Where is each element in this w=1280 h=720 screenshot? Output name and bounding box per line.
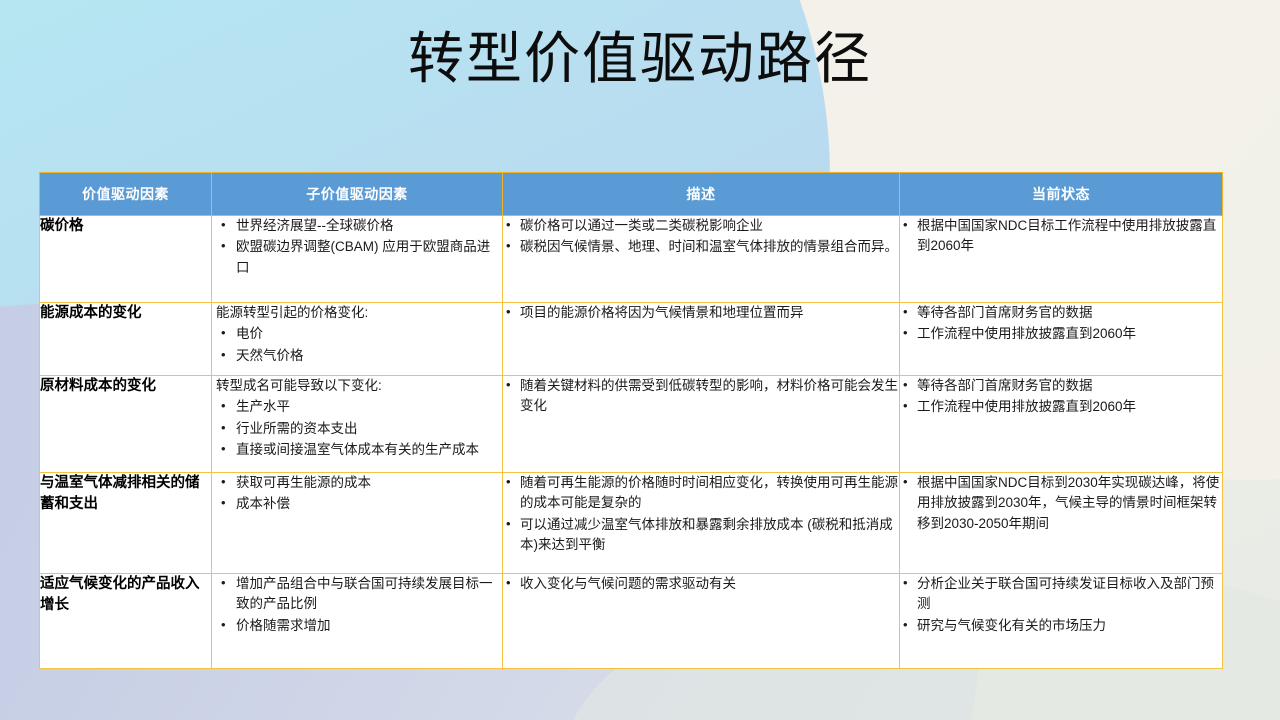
cell-driver: 与温室气体减排相关的储蓄和支出 bbox=[40, 473, 212, 574]
list-item: 根据中国国家NDC目标到2030年实现碳达峰，将使用排放披露到2030年，气候主… bbox=[900, 473, 1222, 534]
list-item: 工作流程中使用排放披露直到2060年 bbox=[900, 324, 1222, 344]
list-item: 碳价格可以通过一类或二类碳税影响企业 bbox=[503, 216, 899, 236]
value-driver-table-wrap: 价值驱动因素 子价值驱动因素 描述 当前状态 碳价格 世界经济展望--全球碳价格… bbox=[39, 172, 1222, 669]
page-title: 转型价值驱动路径 bbox=[0, 24, 1280, 94]
list-item: 世界经济展望--全球碳价格 bbox=[212, 216, 502, 236]
cell-description: 项目的能源价格将因为气候情景和地理位置而异 bbox=[503, 303, 900, 376]
cell-sub-driver: 世界经济展望--全球碳价格 欧盟碳边界调整(CBAM) 应用于欧盟商品进口 bbox=[212, 216, 503, 303]
table-row: 与温室气体减排相关的储蓄和支出 获取可再生能源的成本 成本补偿 随着可再生能源的… bbox=[40, 473, 1223, 574]
description-bullets: 碳价格可以通过一类或二类碳税影响企业 碳税因气候情景、地理、时间和温室气体排放的… bbox=[503, 216, 899, 258]
sub-driver-bullets: 世界经济展望--全球碳价格 欧盟碳边界调整(CBAM) 应用于欧盟商品进口 bbox=[212, 216, 502, 278]
table-header-row: 价值驱动因素 子价值驱动因素 描述 当前状态 bbox=[40, 173, 1223, 216]
list-item: 根据中国国家NDC目标工作流程中使用排放披露直到2060年 bbox=[900, 216, 1222, 257]
description-bullets: 随着可再生能源的价格随时时间相应变化，转换使用可再生能源的成本可能是复杂的 可以… bbox=[503, 473, 899, 555]
list-item: 分析企业关于联合国可持续发证目标收入及部门预测 bbox=[900, 574, 1222, 615]
slide: 转型价值驱动路径 价值驱动因素 子价值驱动因素 描述 当前状态 碳价格 bbox=[0, 0, 1280, 720]
cell-sub-driver: 转型成名可能导致以下变化: 生产水平 行业所需的资本支出 直接或间接温室气体成本… bbox=[212, 376, 503, 473]
status-bullets: 根据中国国家NDC目标工作流程中使用排放披露直到2060年 bbox=[900, 216, 1222, 257]
sub-driver-bullets: 获取可再生能源的成本 成本补偿 bbox=[212, 473, 502, 515]
cell-sub-driver: 增加产品组合中与联合国可持续发展目标一致的产品比例 价格随需求增加 bbox=[212, 574, 503, 669]
list-item: 直接或间接温室气体成本有关的生产成本 bbox=[212, 440, 502, 460]
cell-driver: 能源成本的变化 bbox=[40, 303, 212, 376]
cell-driver: 适应气候变化的产品收入增长 bbox=[40, 574, 212, 669]
list-item: 欧盟碳边界调整(CBAM) 应用于欧盟商品进口 bbox=[212, 237, 502, 278]
sub-driver-lead: 转型成名可能导致以下变化: bbox=[216, 376, 502, 396]
cell-description: 随着关键材料的供需受到低碳转型的影响，材料价格可能会发生变化 bbox=[503, 376, 900, 473]
sub-driver-bullets: 电价 天然气价格 bbox=[212, 324, 502, 366]
list-item: 随着可再生能源的价格随时时间相应变化，转换使用可再生能源的成本可能是复杂的 bbox=[503, 473, 899, 514]
cell-description: 收入变化与气候问题的需求驱动有关 bbox=[503, 574, 900, 669]
description-bullets: 收入变化与气候问题的需求驱动有关 bbox=[503, 574, 899, 594]
list-item: 生产水平 bbox=[212, 397, 502, 417]
list-item: 等待各部门首席财务官的数据 bbox=[900, 303, 1222, 323]
column-header-value-driver: 价值驱动因素 bbox=[40, 173, 212, 216]
cell-description: 随着可再生能源的价格随时时间相应变化，转换使用可再生能源的成本可能是复杂的 可以… bbox=[503, 473, 900, 574]
cell-status: 等待各部门首席财务官的数据 工作流程中使用排放披露直到2060年 bbox=[900, 376, 1223, 473]
list-item: 项目的能源价格将因为气候情景和地理位置而异 bbox=[503, 303, 899, 323]
table-body: 碳价格 世界经济展望--全球碳价格 欧盟碳边界调整(CBAM) 应用于欧盟商品进… bbox=[40, 216, 1223, 669]
list-item: 收入变化与气候问题的需求驱动有关 bbox=[503, 574, 899, 594]
table-row: 能源成本的变化 能源转型引起的价格变化: 电价 天然气价格 项目的能源价格将因为… bbox=[40, 303, 1223, 376]
list-item: 等待各部门首席财务官的数据 bbox=[900, 376, 1222, 396]
column-header-sub-value-driver: 子价值驱动因素 bbox=[212, 173, 503, 216]
status-bullets: 分析企业关于联合国可持续发证目标收入及部门预测 研究与气候变化有关的市场压力 bbox=[900, 574, 1222, 636]
status-bullets: 等待各部门首席财务官的数据 工作流程中使用排放披露直到2060年 bbox=[900, 376, 1222, 418]
cell-description: 碳价格可以通过一类或二类碳税影响企业 碳税因气候情景、地理、时间和温室气体排放的… bbox=[503, 216, 900, 303]
list-item: 成本补偿 bbox=[212, 494, 502, 514]
value-driver-table: 价值驱动因素 子价值驱动因素 描述 当前状态 碳价格 世界经济展望--全球碳价格… bbox=[39, 172, 1223, 669]
cell-status: 根据中国国家NDC目标工作流程中使用排放披露直到2060年 bbox=[900, 216, 1223, 303]
list-item: 工作流程中使用排放披露直到2060年 bbox=[900, 397, 1222, 417]
table-row: 适应气候变化的产品收入增长 增加产品组合中与联合国可持续发展目标一致的产品比例 … bbox=[40, 574, 1223, 669]
list-item: 行业所需的资本支出 bbox=[212, 419, 502, 439]
list-item: 碳税因气候情景、地理、时间和温室气体排放的情景组合而异。 bbox=[503, 237, 899, 257]
status-bullets: 等待各部门首席财务官的数据 工作流程中使用排放披露直到2060年 bbox=[900, 303, 1222, 345]
column-header-current-status: 当前状态 bbox=[900, 173, 1223, 216]
list-item: 价格随需求增加 bbox=[212, 616, 502, 636]
status-bullets: 根据中国国家NDC目标到2030年实现碳达峰，将使用排放披露到2030年，气候主… bbox=[900, 473, 1222, 534]
cell-driver: 原材料成本的变化 bbox=[40, 376, 212, 473]
list-item: 天然气价格 bbox=[212, 346, 502, 366]
cell-status: 分析企业关于联合国可持续发证目标收入及部门预测 研究与气候变化有关的市场压力 bbox=[900, 574, 1223, 669]
column-header-description: 描述 bbox=[503, 173, 900, 216]
list-item: 获取可再生能源的成本 bbox=[212, 473, 502, 493]
list-item: 随着关键材料的供需受到低碳转型的影响，材料价格可能会发生变化 bbox=[503, 376, 899, 417]
list-item: 研究与气候变化有关的市场压力 bbox=[900, 616, 1222, 636]
sub-driver-bullets: 增加产品组合中与联合国可持续发展目标一致的产品比例 价格随需求增加 bbox=[212, 574, 502, 636]
list-item: 电价 bbox=[212, 324, 502, 344]
list-item: 增加产品组合中与联合国可持续发展目标一致的产品比例 bbox=[212, 574, 502, 615]
table-row: 碳价格 世界经济展望--全球碳价格 欧盟碳边界调整(CBAM) 应用于欧盟商品进… bbox=[40, 216, 1223, 303]
cell-driver: 碳价格 bbox=[40, 216, 212, 303]
sub-driver-lead: 能源转型引起的价格变化: bbox=[216, 303, 502, 323]
sub-driver-bullets: 生产水平 行业所需的资本支出 直接或间接温室气体成本有关的生产成本 bbox=[212, 397, 502, 460]
description-bullets: 项目的能源价格将因为气候情景和地理位置而异 bbox=[503, 303, 899, 323]
cell-sub-driver: 能源转型引起的价格变化: 电价 天然气价格 bbox=[212, 303, 503, 376]
list-item: 可以通过减少温室气体排放和暴露剩余排放成本 (碳税和抵消成本)来达到平衡 bbox=[503, 515, 899, 556]
table-row: 原材料成本的变化 转型成名可能导致以下变化: 生产水平 行业所需的资本支出 直接… bbox=[40, 376, 1223, 473]
description-bullets: 随着关键材料的供需受到低碳转型的影响，材料价格可能会发生变化 bbox=[503, 376, 899, 417]
cell-status: 等待各部门首席财务官的数据 工作流程中使用排放披露直到2060年 bbox=[900, 303, 1223, 376]
cell-sub-driver: 获取可再生能源的成本 成本补偿 bbox=[212, 473, 503, 574]
cell-status: 根据中国国家NDC目标到2030年实现碳达峰，将使用排放披露到2030年，气候主… bbox=[900, 473, 1223, 574]
